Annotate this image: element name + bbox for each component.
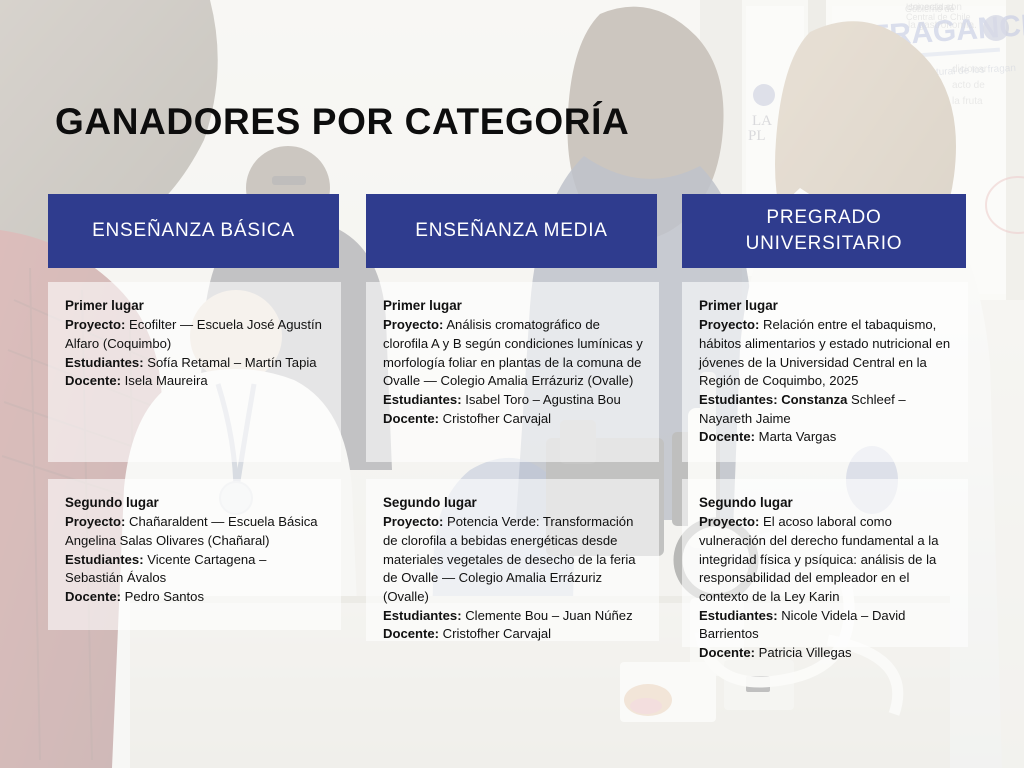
card-line-docente: Docente: Cristofher Carvajal: [383, 410, 643, 429]
card-line-label: Proyecto:: [383, 514, 443, 529]
card-title: Primer lugar: [699, 296, 952, 315]
card-title: Primer lugar: [383, 296, 643, 315]
card-line-value: Cristofher Carvajal: [439, 411, 551, 426]
card-line-label: Estudiantes:: [65, 355, 144, 370]
card-title: Segundo lugar: [383, 493, 643, 512]
category-header-basica: ENSEÑANZA BÁSICA: [48, 194, 339, 268]
card-line-proyecto: Proyecto: Chañaraldent — Escuela Básica …: [65, 513, 325, 550]
winner-card-media-first: Primer lugar Proyecto: Análisis cromatog…: [366, 282, 659, 462]
card-line-estudiantes: Estudiantes: Nicole Videla – David Barri…: [699, 607, 952, 644]
card-line-label: Proyecto:: [65, 514, 125, 529]
card-line-estudiantes: Estudiantes: Constanza Schleef – Nayaret…: [699, 391, 952, 428]
winner-card-pregrado-first: Primer lugar Proyecto: Relación entre el…: [682, 282, 968, 462]
card-line-value: Sofía Retamal – Martín Tapia: [144, 355, 317, 370]
card-line-proyecto: Proyecto: Ecofilter — Escuela José Agust…: [65, 316, 325, 353]
card-line-estudiantes: Estudiantes: Vicente Cartagena – Sebasti…: [65, 551, 325, 588]
card-line-label: Docente:: [699, 429, 755, 444]
category-header-pregrado: PREGRADO UNIVERSITARIO: [682, 194, 966, 268]
card-line-label: Docente:: [65, 373, 121, 388]
card-line-estudiantes: Estudiantes: Sofía Retamal – Martín Tapi…: [65, 354, 325, 373]
card-line-docente: Docente: Marta Vargas: [699, 428, 952, 447]
card-line-label: Estudiantes:: [383, 608, 462, 623]
winner-card-basica-first: Primer lugar Proyecto: Ecofilter — Escue…: [48, 282, 341, 462]
card-line-label: Estudiantes:: [699, 608, 778, 623]
card-line-label: Docente:: [383, 626, 439, 641]
card-line-proyecto: Proyecto: Análisis cromatográfico de clo…: [383, 316, 643, 391]
card-line-label: Docente:: [699, 645, 755, 660]
card-title: Primer lugar: [65, 296, 325, 315]
card-line-label: Proyecto:: [65, 317, 125, 332]
card-line-label: Proyecto:: [699, 317, 759, 332]
winner-card-pregrado-second: Segundo lugar Proyecto: El acoso laboral…: [682, 479, 968, 647]
card-line-proyecto: Proyecto: El acoso laboral como vulnerac…: [699, 513, 952, 607]
card-line-label: Docente:: [65, 589, 121, 604]
card-line-value: Isela Maureira: [121, 373, 208, 388]
card-line-docente: Docente: Isela Maureira: [65, 372, 325, 391]
winner-card-basica-second: Segundo lugar Proyecto: Chañaraldent — E…: [48, 479, 341, 630]
card-line-value: Clemente Bou – Juan Núñez: [462, 608, 633, 623]
card-line-docente: Docente: Patricia Villegas: [699, 644, 952, 663]
slide-root: GANADORES POR CATEGORÍA ENSEÑANZA BÁSICA…: [0, 0, 1024, 768]
card-line-label: Proyecto:: [699, 514, 759, 529]
card-title: Segundo lugar: [65, 493, 325, 512]
card-line-estudiantes: Estudiantes: Clemente Bou – Juan Núñez: [383, 607, 643, 626]
card-line-value: Cristofher Carvajal: [439, 626, 551, 641]
card-title: Segundo lugar: [699, 493, 952, 512]
category-columns: ENSEÑANZA BÁSICA Primer lugar Proyecto: …: [0, 0, 1024, 768]
card-line-docente: Docente: Cristofher Carvajal: [383, 625, 643, 644]
category-header-media: ENSEÑANZA MEDIA: [366, 194, 657, 268]
card-line-label: Proyecto:: [383, 317, 443, 332]
card-line-value: Patricia Villegas: [755, 645, 852, 660]
card-line-label: Docente:: [383, 411, 439, 426]
card-line-label: Estudiantes:: [383, 392, 462, 407]
card-line-estudiantes: Estudiantes: Isabel Toro – Agustina Bou: [383, 391, 643, 410]
card-line-label: Estudiantes: Constanza: [699, 392, 847, 407]
winner-card-media-second: Segundo lugar Proyecto: Potencia Verde: …: [366, 479, 659, 641]
card-line-proyecto: Proyecto: Relación entre el tabaquismo, …: [699, 316, 952, 391]
card-line-value: Isabel Toro – Agustina Bou: [462, 392, 621, 407]
card-line-proyecto: Proyecto: Potencia Verde: Transformación…: [383, 513, 643, 607]
card-line-docente: Docente: Pedro Santos: [65, 588, 325, 607]
card-line-label: Estudiantes:: [65, 552, 144, 567]
card-line-value: Pedro Santos: [121, 589, 204, 604]
card-line-value: Marta Vargas: [755, 429, 836, 444]
